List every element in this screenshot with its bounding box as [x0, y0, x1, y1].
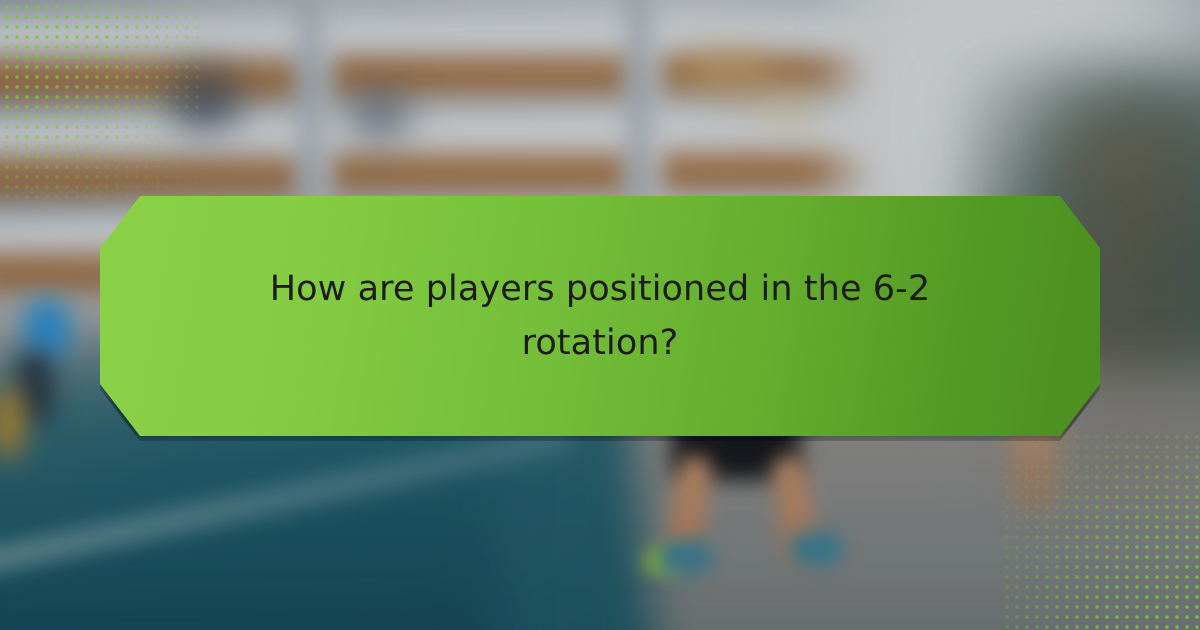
hero-card: How are players positioned in the 6-2 ro… — [0, 0, 1200, 630]
title-banner-surface: How are players positioned in the 6-2 ro… — [100, 196, 1100, 436]
title-banner: How are players positioned in the 6-2 ro… — [100, 196, 1100, 436]
page-title: How are players positioned in the 6-2 ro… — [230, 262, 970, 371]
